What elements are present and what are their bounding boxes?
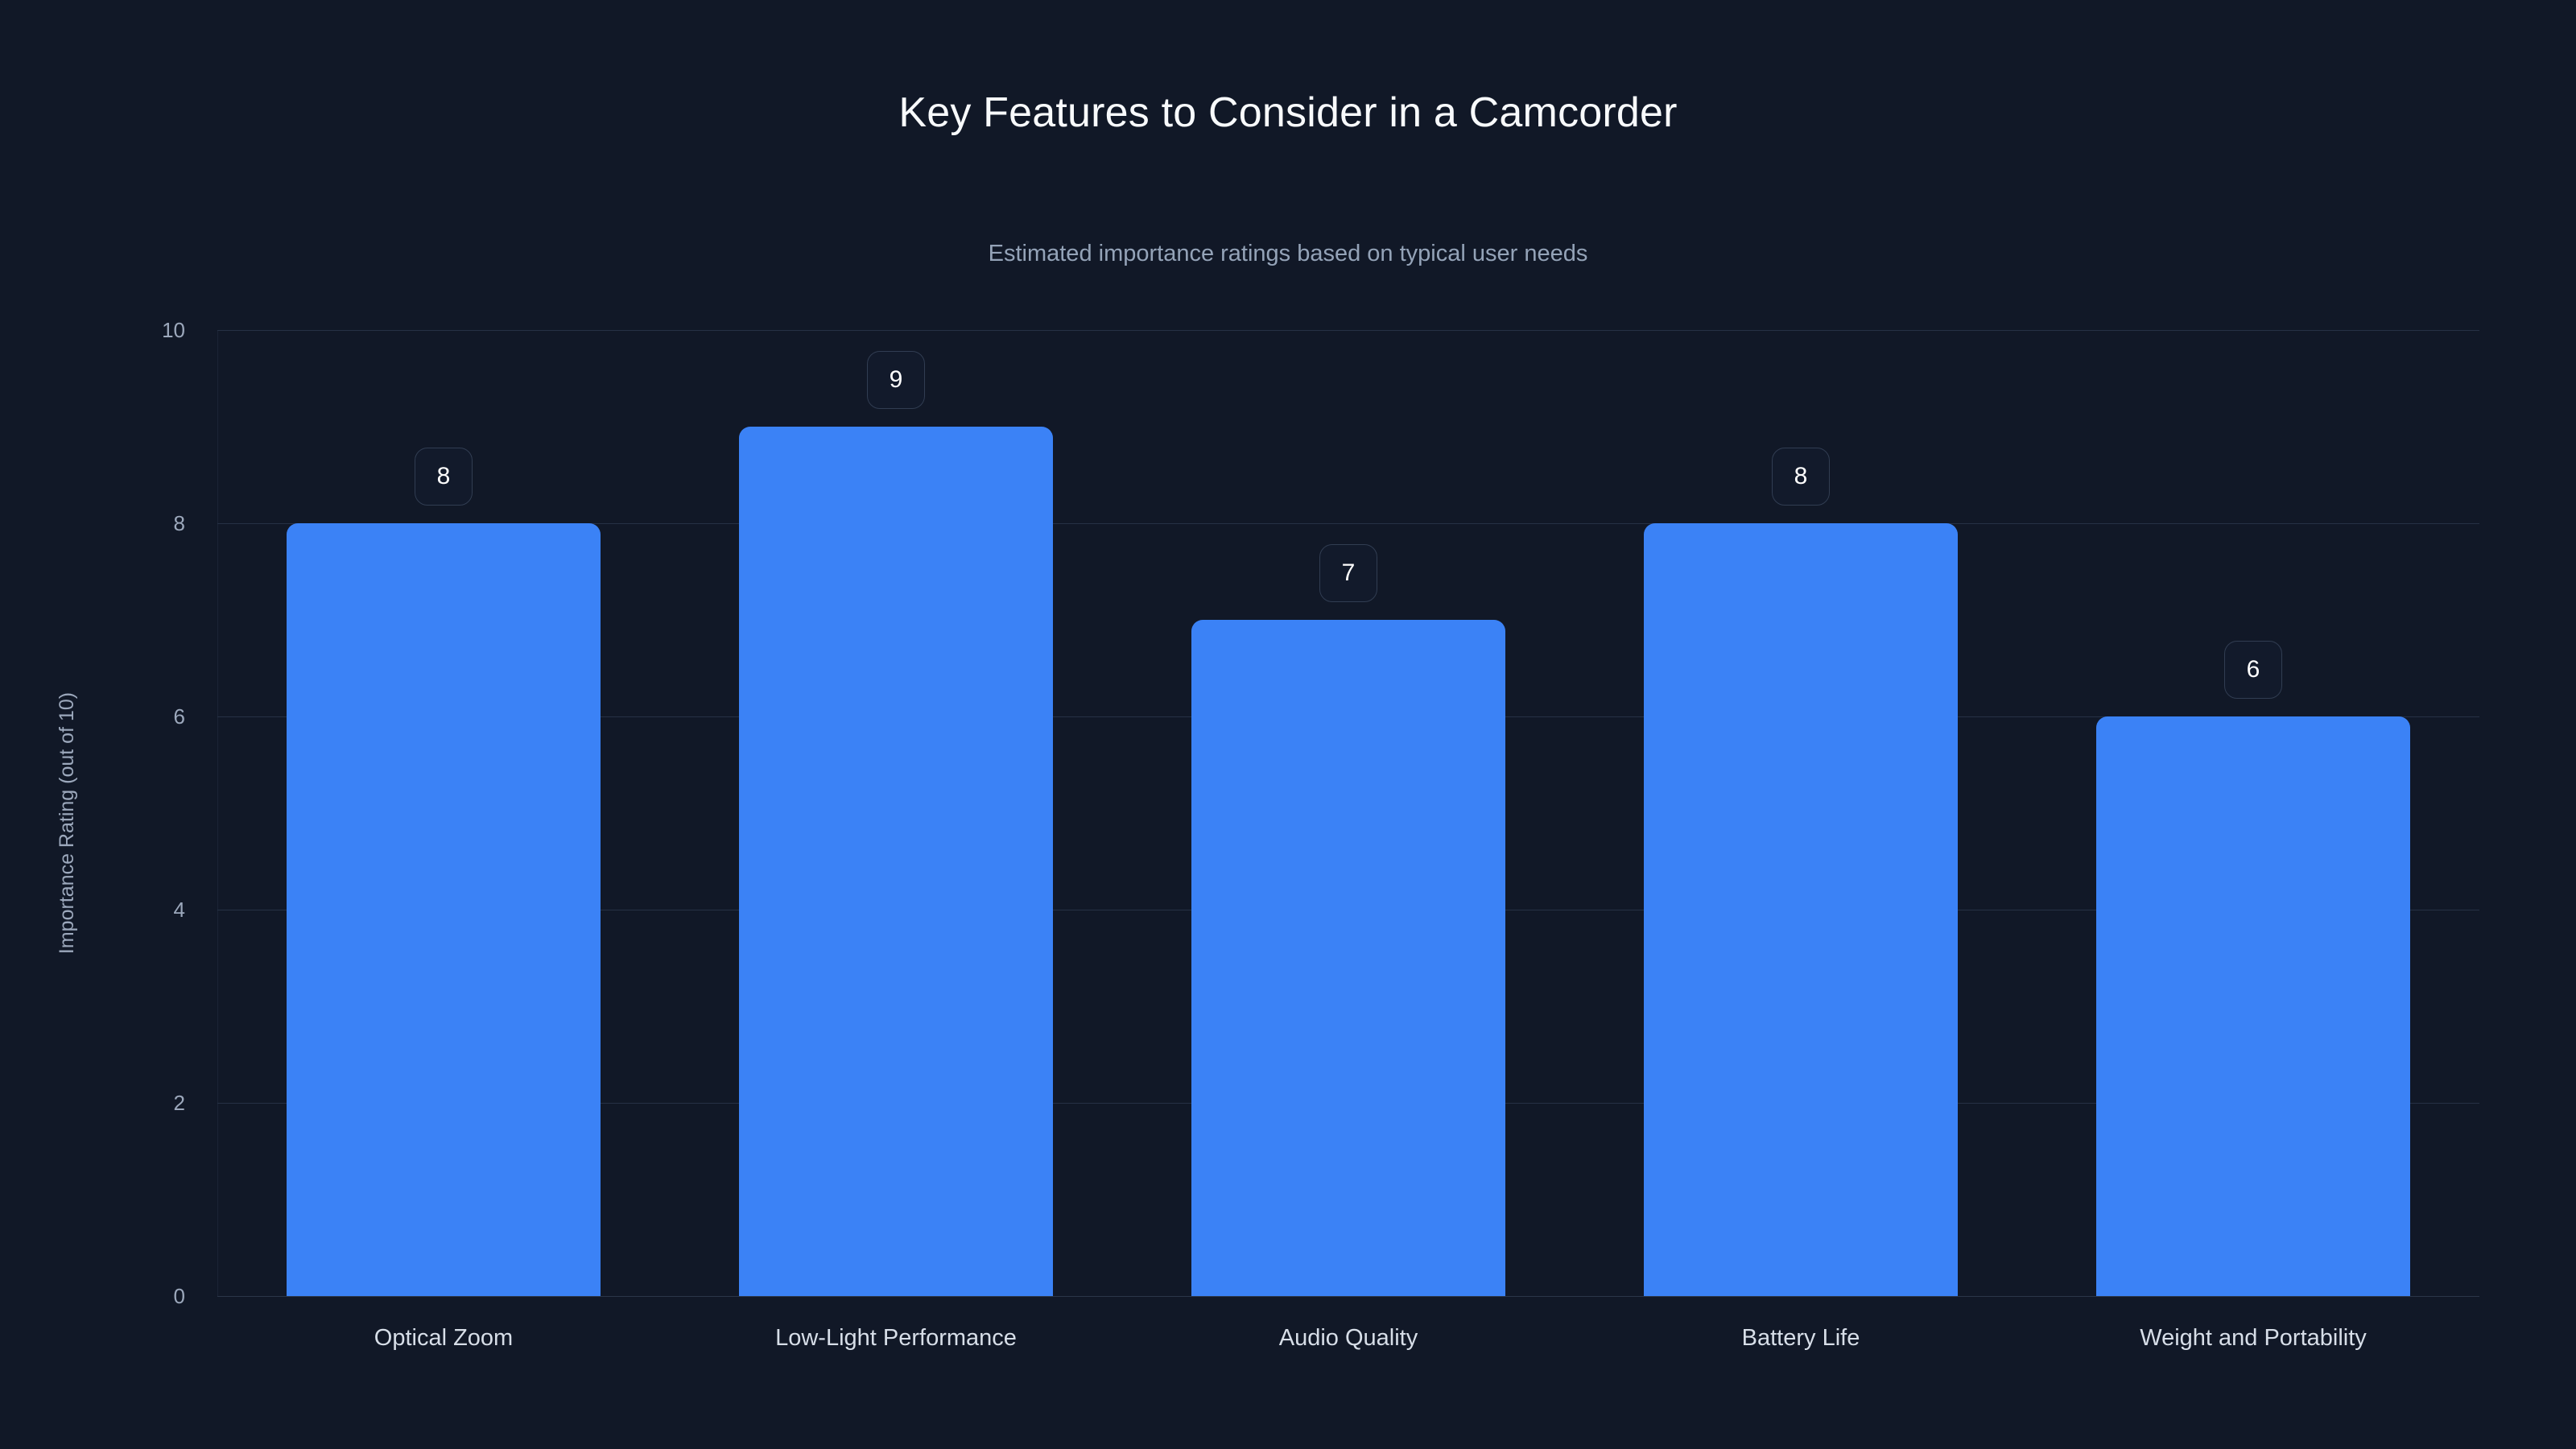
y-axis-tick-label: 10 [72,320,185,341]
x-axis-tick-label: Weight and Portability [2140,1327,2367,1350]
y-axis-tick-label: 6 [72,706,185,727]
bar[interactable] [2096,716,2410,1296]
bar-value-label: 8 [1772,448,1830,506]
y-axis-tick-label: 0 [72,1286,185,1307]
bar[interactable] [1644,523,1958,1296]
y-axis-tick-label: 4 [72,899,185,920]
bar[interactable] [739,427,1053,1296]
bar[interactable] [1191,620,1505,1296]
bar[interactable] [287,523,601,1296]
bar-chart-figure: Key Features to Consider in a Camcorder … [0,0,2576,1449]
y-axis-spine [217,330,218,1297]
gridline [217,330,2479,331]
gridline [217,1296,2479,1297]
chart-title: Key Features to Consider in a Camcorder [0,90,2576,136]
y-axis-tick-label: 8 [72,513,185,534]
x-axis-tick-label: Audio Quality [1279,1327,1418,1350]
x-axis-tick-label: Battery Life [1742,1327,1860,1350]
bar-value-label: 9 [867,351,925,409]
chart-subtitle: Estimated importance ratings based on ty… [0,242,2576,267]
bar-value-label: 8 [415,448,473,506]
x-axis-tick-label: Low-Light Performance [775,1327,1017,1350]
bar-value-label: 6 [2224,641,2282,699]
bar-value-label: 7 [1319,544,1377,602]
x-axis-tick-label: Optical Zoom [374,1327,513,1350]
y-axis-tick-label: 2 [72,1092,185,1113]
